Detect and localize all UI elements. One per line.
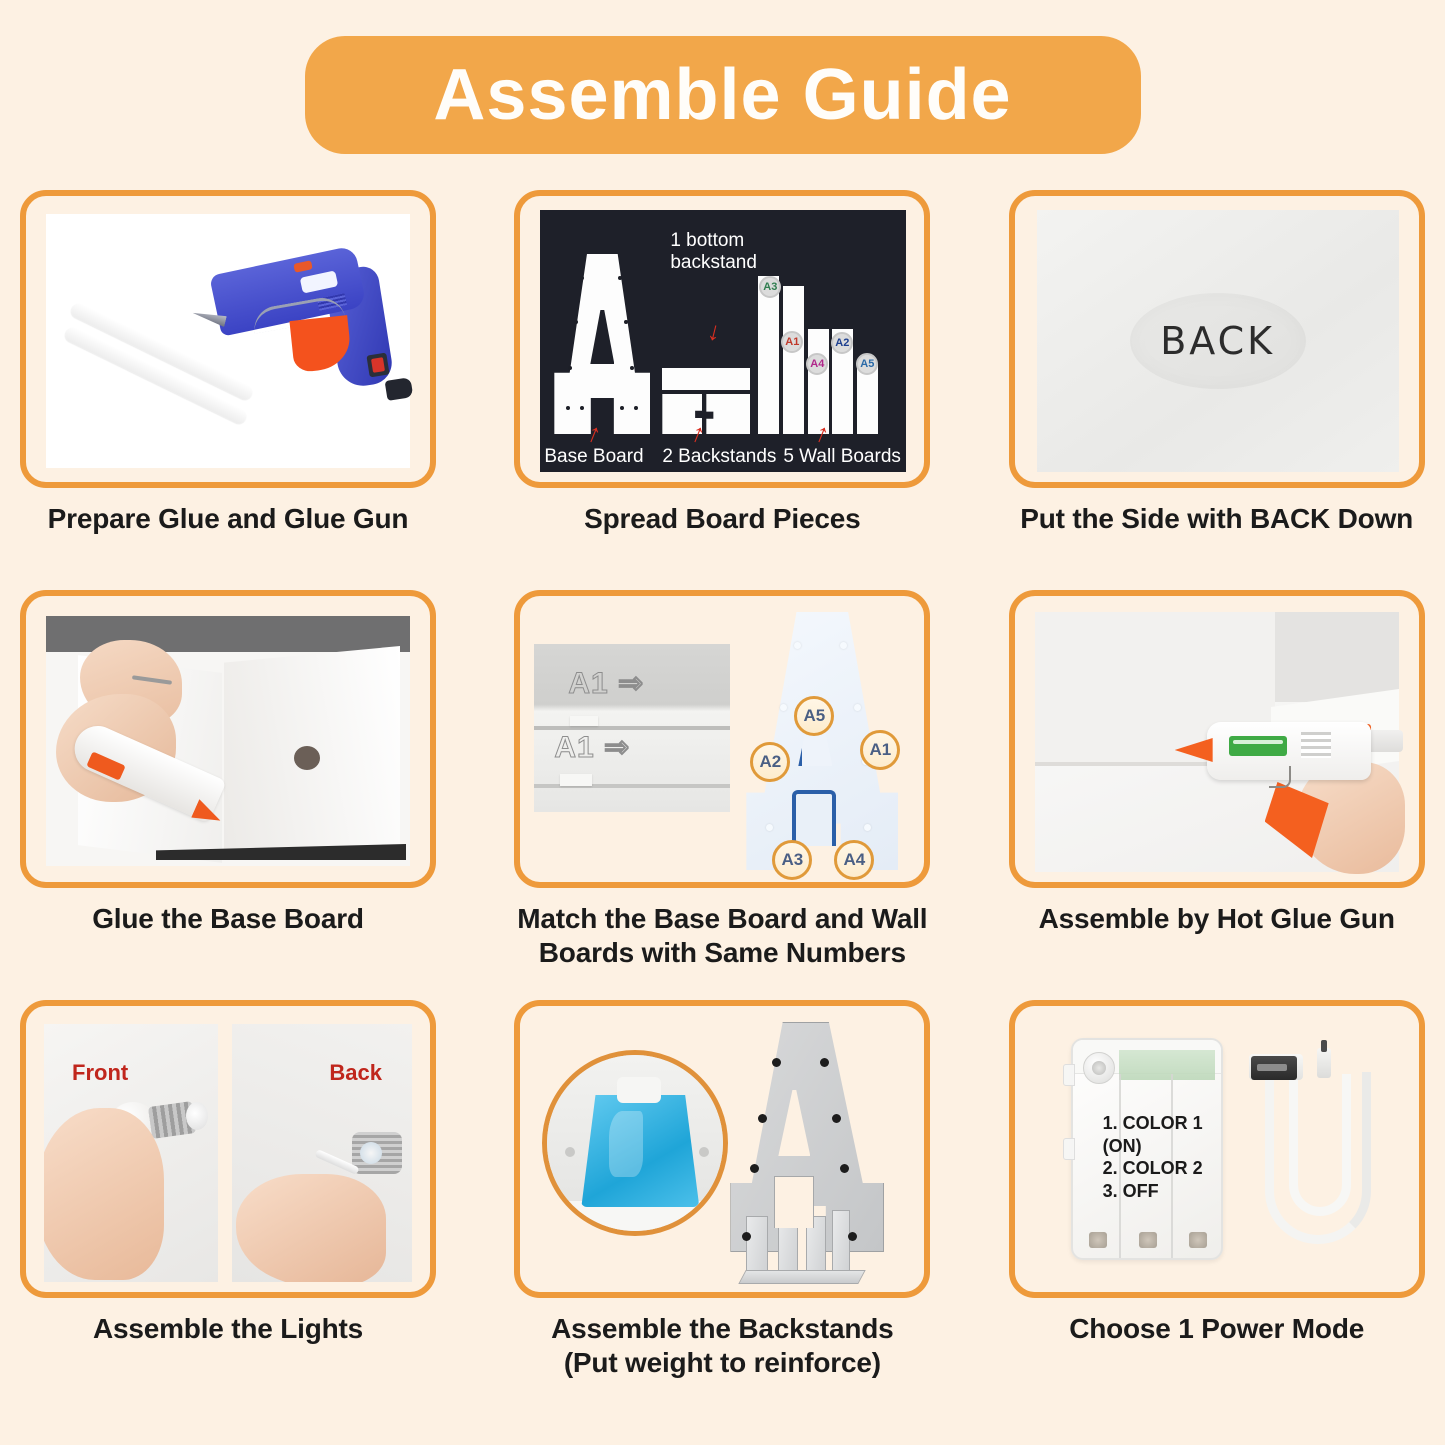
step-9-image-panel: 1. COLOR 1 (ON) 2. COLOR 2 3. OFF — [1009, 1000, 1425, 1298]
step-1-caption: Prepare Glue and Glue Gun — [20, 502, 436, 536]
step-3-caption: Put the Side with BACK Down — [1009, 502, 1425, 536]
emboss-mark-a1-upper: A1 ⇒ — [568, 666, 644, 701]
glue-gun-power-switch — [366, 353, 389, 378]
circuit-board — [1119, 1050, 1215, 1080]
front-light-photo: Front — [44, 1024, 218, 1282]
step-5-caption-line2: Boards with Same Numbers — [514, 936, 930, 970]
back-light-photo: Back — [232, 1024, 412, 1282]
step-card-5: A1 ⇒ A1 ⇒ A5 A2 — [514, 590, 930, 1000]
backstand-piece — [832, 1210, 850, 1278]
power-mode-list: 1. COLOR 1 (ON) 2. COLOR 2 3. OFF — [1103, 1112, 1221, 1203]
title-banner: Assemble Guide — [305, 36, 1141, 154]
usb-plug-icon — [1249, 1054, 1303, 1080]
circle-tag-a4: A4 — [834, 840, 874, 880]
letter-a-with-backstands — [716, 1020, 906, 1286]
step-2-caption-line1: Spread Board Pieces — [514, 502, 930, 536]
weight-bag-inset-photo — [542, 1050, 728, 1236]
front-label: Front — [72, 1060, 128, 1086]
wall-board-a1 — [783, 286, 804, 434]
step-7-caption: Assemble the Lights — [20, 1312, 436, 1346]
bulb-socket-icon — [352, 1132, 402, 1174]
circle-tag-a1: A1 — [860, 730, 900, 770]
usb-cable — [1243, 1044, 1385, 1254]
step-6-image-panel — [1009, 590, 1425, 888]
glue-gun-wire-stand — [1269, 766, 1291, 788]
step-5-caption-line1: Match the Base Board and Wall — [514, 902, 930, 936]
board-pieces-diagram: A3 A1 A4 A2 A5 1 bottom backstand ↓ ↑ ↑ … — [540, 210, 906, 472]
wall-board-a3 — [758, 276, 779, 434]
glue-gun-vent — [1301, 732, 1331, 758]
label-backstands: 2 Backstands — [662, 446, 776, 468]
circle-tag-a3: A3 — [772, 840, 812, 880]
step-4-caption-line1: Glue the Base Board — [20, 902, 436, 936]
step-card-3: BACK Put the Side with BACK Down — [1009, 190, 1425, 590]
step-8-caption: Assemble the Backstands (Put weight to r… — [514, 1312, 930, 1380]
step-5-caption: Match the Base Board and Wall Boards wit… — [514, 902, 930, 970]
board-tab — [560, 774, 592, 786]
hand — [236, 1174, 386, 1282]
label-base-board: Base Board — [544, 446, 643, 468]
page-title: Assemble Guide — [433, 59, 1011, 131]
bulb-tip — [186, 1102, 208, 1130]
back-label: Back — [329, 1060, 382, 1086]
step-9-caption-line1: Choose 1 Power Mode — [1009, 1312, 1425, 1346]
embossed-marks-photo: A1 ⇒ A1 ⇒ — [534, 644, 730, 812]
step-4-image-panel — [20, 590, 436, 888]
emboss-mark-a1-lower: A1 ⇒ — [554, 730, 630, 765]
step-card-7: Front Back Assemble the Lights — [20, 1000, 436, 1420]
back-label: BACK — [1160, 319, 1275, 363]
board-tab — [570, 716, 598, 726]
bag-handle — [617, 1077, 661, 1103]
power-button[interactable] — [1083, 1052, 1115, 1084]
step-6-caption-line1: Assemble by Hot Glue Gun — [1009, 902, 1425, 936]
step-card-8: Assemble the Backstands (Put weight to r… — [514, 1000, 930, 1420]
step-card-1: Prepare Glue and Glue Gun — [20, 190, 436, 590]
header: Assemble Guide — [0, 0, 1445, 190]
back-side-board-photo: BACK — [1037, 210, 1399, 472]
step-5-image-panel: A1 ⇒ A1 ⇒ A5 A2 — [514, 590, 930, 888]
step-4-caption: Glue the Base Board — [20, 902, 436, 936]
glue-gun-cable-cap — [385, 377, 414, 401]
label-wall-boards: 5 Wall Boards — [783, 446, 901, 468]
step-card-2: A3 A1 A4 A2 A5 1 bottom backstand ↓ ↑ ↑ … — [514, 190, 930, 590]
backstand-foot — [739, 1270, 866, 1284]
dc-plug-icon — [1317, 1048, 1331, 1078]
step-6-caption: Assemble by Hot Glue Gun — [1009, 902, 1425, 936]
step-1-image-panel — [20, 190, 436, 488]
cable-loop-inner — [1289, 1074, 1351, 1216]
base-board-letter-a — [554, 254, 650, 434]
step-3-caption-line1: Put the Side with BACK Down — [1009, 502, 1425, 536]
down-arrow-icon: ↓ — [705, 317, 724, 345]
letter-a-3d-blue: A5 A2 A1 A3 A4 — [736, 608, 908, 876]
bottom-backstand-piece — [662, 368, 750, 390]
step-3-image-panel: BACK — [1009, 190, 1425, 488]
backstand-piece — [706, 394, 750, 434]
backstand-piece — [746, 1216, 768, 1278]
hot-glue-gun-photo — [1035, 612, 1399, 872]
step-7-caption-line1: Assemble the Lights — [20, 1312, 436, 1346]
step-2-image-panel: A3 A1 A4 A2 A5 1 bottom backstand ↓ ↑ ↑ … — [514, 190, 930, 488]
step-2-caption: Spread Board Pieces — [514, 502, 930, 536]
step-card-6: Assemble by Hot Glue Gun — [1009, 590, 1425, 1000]
glue-gun-brand-label — [1229, 736, 1287, 756]
glue-gun-photo — [46, 214, 410, 468]
step-card-4: Glue the Base Board — [20, 590, 436, 1000]
glue-base-board-photo — [46, 616, 410, 866]
board-hole — [294, 746, 320, 770]
step-8-caption-line1: Assemble the Backstands — [514, 1312, 930, 1346]
hand — [44, 1108, 164, 1280]
step-1-caption-line1: Prepare Glue and Glue Gun — [20, 502, 436, 536]
step-card-9: 1. COLOR 1 (ON) 2. COLOR 2 3. OFF — [1009, 1000, 1425, 1420]
step-8-image-panel — [514, 1000, 930, 1298]
battery-box: 1. COLOR 1 (ON) 2. COLOR 2 3. OFF — [1071, 1038, 1223, 1260]
bottom-backstand-note: 1 bottom backstand — [670, 230, 757, 275]
step-9-caption: Choose 1 Power Mode — [1009, 1312, 1425, 1346]
step-8-caption-line2: (Put weight to reinforce) — [514, 1346, 930, 1380]
board-background — [1275, 612, 1399, 702]
steps-grid: Prepare Glue and Glue Gun — [0, 190, 1445, 1420]
step-7-image-panel: Front Back — [20, 1000, 436, 1298]
